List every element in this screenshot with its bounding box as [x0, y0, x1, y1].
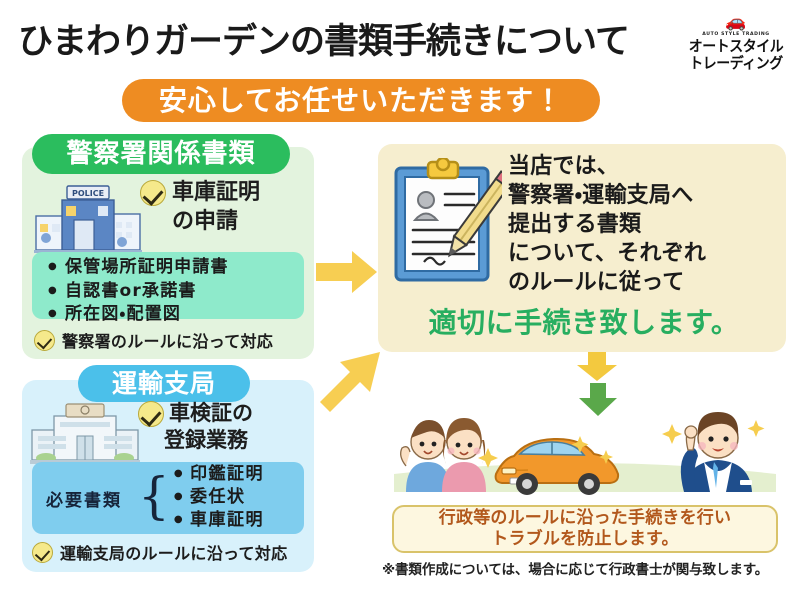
- police-heading-line-2: の申請: [172, 207, 308, 236]
- transport-heading: 車検証の 登録業務: [138, 400, 308, 455]
- police-document-list: 保管場所証明申請書 自認書or承諾書 所在図・配置図: [32, 252, 304, 319]
- check-icon: [140, 180, 166, 206]
- main-text-line-5: のルールに従って: [508, 268, 780, 297]
- government-building-icon: [30, 396, 140, 466]
- customers-car-staff-illustration: [384, 396, 786, 496]
- list-item: 自認書or承諾書: [48, 281, 304, 305]
- transport-heading-line-2: 登録業務: [164, 427, 308, 454]
- footnote-text: ※書類作成については、場合に応じて行政書士が関与致します。: [382, 558, 794, 578]
- transport-document-list: 印鑑証明 委任状 車庫証明: [174, 464, 264, 533]
- transport-document-box: 必要書類 { 印鑑証明 委任状 車庫証明: [32, 462, 304, 534]
- clipboard-pencil-icon: [390, 158, 502, 286]
- list-item: 車庫証明: [174, 510, 264, 533]
- police-heading: 車庫証明 の申請: [140, 178, 308, 236]
- police-heading-line-1: 車庫証明: [172, 178, 260, 207]
- subtitle-banner: 安心してお任せいただきます！: [122, 79, 600, 122]
- note-line-1: 行政等のルールに沿った手続きを行い: [439, 508, 731, 529]
- main-highlight-text: 適切に手続き致します。: [398, 308, 770, 339]
- brand-line-1: オートスタイル: [684, 38, 788, 55]
- arrow-down-icon: [575, 352, 619, 382]
- page-title: ひまわりガーデンの書類手続きについて: [18, 22, 678, 62]
- transport-footer-text: 運輸支局のルールに沿って対応: [60, 540, 287, 564]
- list-item: 所在図・配置図: [48, 304, 304, 328]
- note-line-2: トラブルを防止します。: [491, 529, 679, 550]
- brace-decoration: {: [138, 471, 170, 521]
- infographic-page: ひまわりガーデンの書類手続きについて 🚗 AUTO STYLE TRADING …: [0, 0, 800, 600]
- note-box: 行政等のルールに沿った手続きを行い トラブルを防止します。: [392, 505, 778, 553]
- car-icon: 🚗: [680, 12, 792, 32]
- police-footer-note: 警察署のルールに沿って対応: [34, 328, 273, 352]
- list-item: 保管場所証明申請書: [48, 257, 304, 281]
- check-icon: [32, 542, 53, 563]
- brand-line-2: トレーディング: [684, 55, 788, 72]
- transport-footer-note: 運輸支局のルールに沿って対応: [32, 540, 287, 564]
- check-icon: [34, 330, 55, 351]
- police-footer-text: 警察署のルールに沿って対応: [62, 328, 273, 352]
- check-icon: [138, 401, 164, 427]
- police-section-title: 警察署関係書類: [32, 134, 290, 174]
- arrow-up-right-icon: [316, 346, 386, 418]
- main-statement-text: 当店では、 警察署・運輸支局へ 提出する書類 について、それぞれ のルールに従っ…: [508, 152, 780, 297]
- main-text-line-4: について、それぞれ: [508, 239, 780, 268]
- main-text-line-2: 警察署・運輸支局へ: [508, 181, 780, 210]
- main-text-line-1: 当店では、: [508, 152, 780, 181]
- svg-text:POLICE: POLICE: [72, 189, 104, 198]
- main-text-line-3: 提出する書類: [508, 210, 780, 239]
- list-item: 印鑑証明: [174, 464, 264, 487]
- arrow-right-icon: [316, 248, 378, 296]
- police-station-icon: POLICE: [34, 176, 142, 254]
- list-item: 委任状: [174, 487, 264, 510]
- required-documents-label: 必要書類: [46, 486, 138, 511]
- transport-heading-line-1: 車検証の: [169, 400, 253, 427]
- brand-logo: 🚗 AUTO STYLE TRADING オートスタイル トレーディング: [680, 12, 792, 78]
- happy-couple-icon: [401, 418, 486, 492]
